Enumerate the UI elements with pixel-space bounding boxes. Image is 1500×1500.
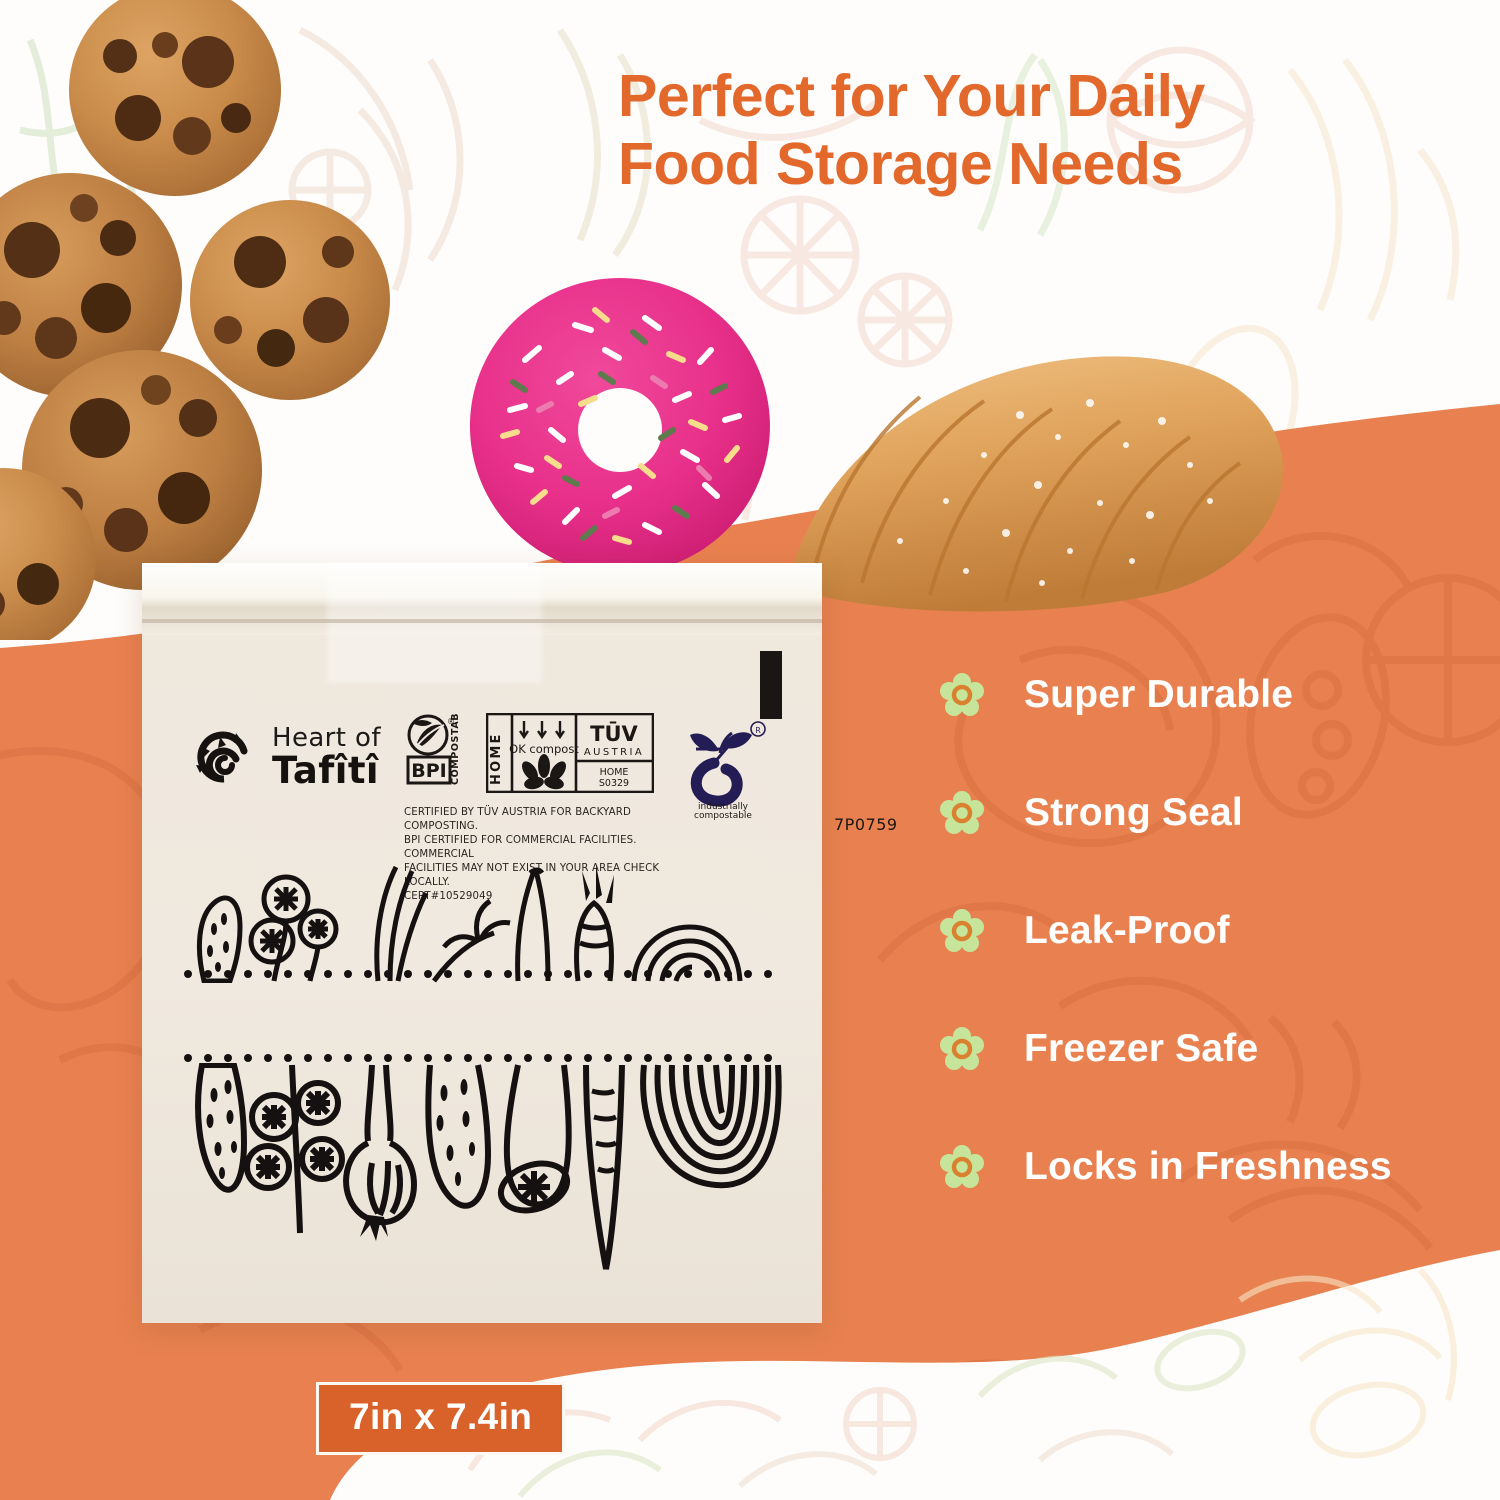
product-infographic: Perfect for Your Daily Food Storage Need… bbox=[0, 0, 1500, 1500]
feature-label: Freezer Safe bbox=[1024, 1027, 1258, 1071]
flower-icon bbox=[940, 673, 984, 717]
feature-label: Locks in Freshness bbox=[1024, 1145, 1392, 1189]
flower-icon bbox=[940, 909, 984, 953]
size-badge: 7in x 7.4in bbox=[316, 1382, 565, 1455]
feature-item-strong-seal: Strong Seal bbox=[940, 754, 1480, 872]
feature-item-locks-in-freshness: Locks in Freshness bbox=[940, 1108, 1480, 1226]
flower-icon bbox=[940, 1027, 984, 1071]
feature-label: Super Durable bbox=[1024, 673, 1293, 717]
feature-item-freezer-safe: Freezer Safe bbox=[940, 990, 1480, 1108]
feature-item-super-durable: Super Durable bbox=[940, 636, 1480, 754]
headline-line-2: Food Storage Needs bbox=[618, 130, 1418, 198]
feature-label: Strong Seal bbox=[1024, 791, 1243, 835]
size-badge-label: 7in x 7.4in bbox=[349, 1396, 532, 1437]
flower-icon bbox=[940, 1145, 984, 1189]
feature-label: Leak-Proof bbox=[1024, 909, 1230, 953]
feature-item-leak-proof: Leak-Proof bbox=[940, 872, 1480, 990]
feature-list: Super Durable Strong Seal Leak-Proof bbox=[940, 636, 1480, 1226]
headline: Perfect for Your Daily Food Storage Need… bbox=[618, 62, 1418, 199]
flower-icon bbox=[940, 791, 984, 835]
headline-line-1: Perfect for Your Daily bbox=[618, 62, 1418, 130]
